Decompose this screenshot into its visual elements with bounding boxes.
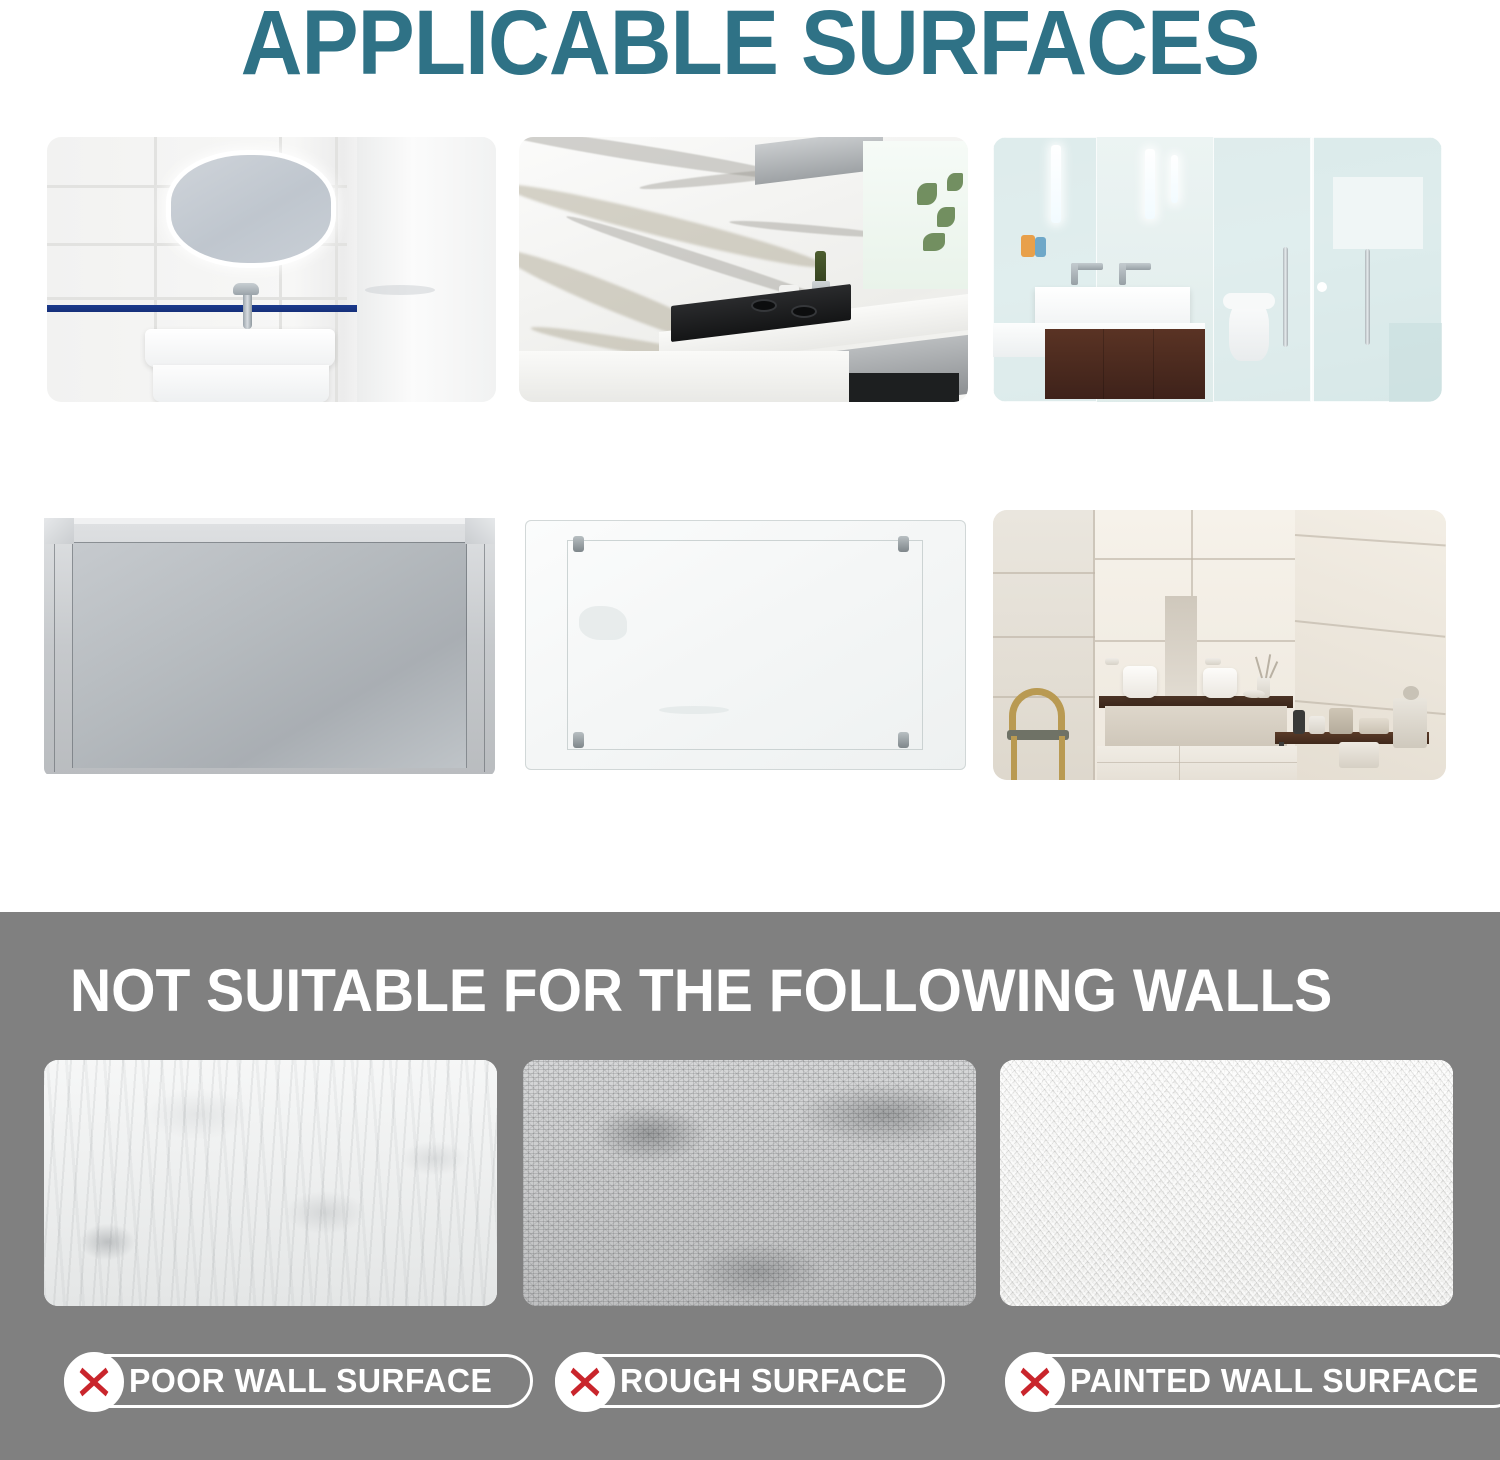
applicable-surfaces-section: APPLICABLE SURFACES bbox=[0, 0, 1500, 912]
surface-card-smooth-tiles: SMOOTH TILES bbox=[993, 510, 1446, 780]
cross-icon bbox=[555, 1352, 615, 1412]
label-pill-poor-wall[interactable]: POOR WALL SURFACE bbox=[64, 1354, 533, 1408]
glass-shower-photo bbox=[993, 137, 1442, 402]
label-pill-painted[interactable]: PAINTED WALL SURFACE bbox=[1005, 1354, 1500, 1408]
label-pill-rough[interactable]: ROUGH SURFACE bbox=[555, 1354, 945, 1408]
cross-icon bbox=[1005, 1352, 1065, 1412]
smooth-tiles-bathroom-photo bbox=[993, 510, 1446, 780]
unsuitable-card-poor-wall: POOR WALL SURFACE bbox=[44, 1060, 497, 1306]
not-suitable-section: NOT SUITABLE FOR THE FOLLOWING WALLS POO… bbox=[0, 912, 1500, 1460]
infographic-page: APPLICABLE SURFACES bbox=[0, 0, 1500, 1460]
label-text: POOR WALL SURFACE bbox=[129, 1362, 492, 1400]
marble-kitchen-photo bbox=[519, 137, 968, 402]
page-title: APPLICABLE SURFACES bbox=[53, 0, 1448, 93]
bathroom-mirror-photo bbox=[47, 137, 496, 402]
cross-icon bbox=[64, 1352, 124, 1412]
surface-card-glass: GLASS bbox=[993, 137, 1442, 402]
surface-card-windows: WINDOWS bbox=[42, 510, 497, 780]
not-suitable-title: NOT SUITABLE FOR THE FOLLOWING WALLS bbox=[70, 956, 1332, 1025]
surface-card-marble: MARBLE bbox=[519, 137, 968, 402]
window-frame-photo bbox=[42, 510, 497, 780]
poor-wall-texture bbox=[44, 1060, 497, 1306]
unsuitable-card-rough: ROUGH SURFACE bbox=[523, 1060, 976, 1306]
painted-stucco-texture bbox=[1000, 1060, 1453, 1306]
acrylic-plate-photo bbox=[519, 510, 972, 780]
unsuitable-card-painted: PAINTED WALL SURFACE bbox=[1000, 1060, 1453, 1306]
label-text: ROUGH SURFACE bbox=[620, 1362, 907, 1400]
rough-concrete-texture bbox=[523, 1060, 976, 1306]
surface-card-mirror: MIRROR bbox=[47, 137, 496, 402]
surface-card-acrylic: ACRYLIC PLATE bbox=[519, 510, 972, 780]
label-text: PAINTED WALL SURFACE bbox=[1070, 1362, 1479, 1400]
